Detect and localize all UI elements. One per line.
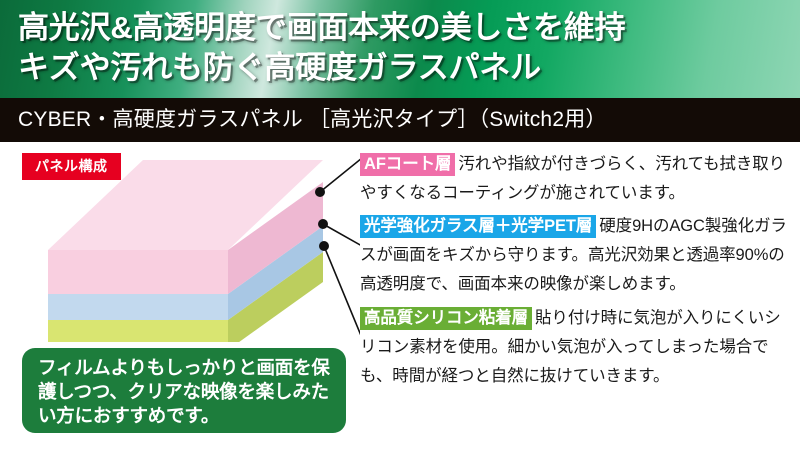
body-area: パネル構成 [0,142,800,450]
leader-line-glass [323,224,360,246]
callout-af-coat-body: AFコート層汚れや指紋が付きづらく、汚れても拭き取りやすくなるコーティングが施さ… [360,150,794,208]
layer-glass-front [48,294,228,320]
callout-silicone-tag: 高品質シリコン粘着層 [360,307,532,330]
panel-structure-badge: パネル構成 [22,153,121,180]
leader-dot-silicone [319,241,329,251]
layer-silicone-front [48,320,228,342]
callout-af-coat-tag: AFコート層 [360,153,455,176]
layer-af-front [48,250,228,294]
leader-dot-glass [318,219,328,229]
leader-line-af [320,158,360,192]
product-feature-page: 高光沢&高透明度で画面本来の美しさを維持 キズや汚れも防ぐ高硬度ガラスパネル C… [0,0,800,450]
callout-glass-pet: 光学強化ガラス層＋光学PET層硬度9HのAGC製強化ガラスが画面をキズから守りま… [360,212,794,299]
header-text-wrap: 高光沢&高透明度で画面本来の美しさを維持 キズや汚れも防ぐ高硬度ガラスパネル [18,8,788,88]
callout-silicone: 高品質シリコン粘着層貼り付け時に気泡が入りにくいシリコン素材を使用。細かい気泡が… [360,304,794,391]
header-headline-line1: 高光沢&高透明度で画面本来の美しさを維持 [18,8,788,48]
callout-silicone-body: 高品質シリコン粘着層貼り付け時に気泡が入りにくいシリコン素材を使用。細かい気泡が… [360,304,794,391]
leader-dot-af [315,187,325,197]
callout-glass-pet-tag: 光学強化ガラス層＋光学PET層 [360,215,596,238]
product-name-text: CYBER・高硬度ガラスパネル ［高光沢タイプ］（Switch2用） [18,107,607,133]
leader-line-silicone [324,246,360,338]
callout-af-coat: AFコート層汚れや指紋が付きづらく、汚れても拭き取りやすくなるコーティングが施さ… [360,150,794,208]
recommendation-text: フィルムよりもしっかりと画面を保護しつつ、クリアな映像を楽しみたい方におすすめで… [38,356,332,428]
recommendation-box: フィルムよりもしっかりと画面を保護しつつ、クリアな映像を楽しみたい方におすすめで… [22,348,346,433]
subtitle-bar: CYBER・高硬度ガラスパネル ［高光沢タイプ］（Switch2用） [0,98,800,142]
header-headline-line2: キズや汚れも防ぐ高硬度ガラスパネル [18,48,788,88]
header-banner: 高光沢&高透明度で画面本来の美しさを維持 キズや汚れも防ぐ高硬度ガラスパネル [0,0,800,98]
callout-glass-pet-body: 光学強化ガラス層＋光学PET層硬度9HのAGC製強化ガラスが画面をキズから守りま… [360,212,794,299]
